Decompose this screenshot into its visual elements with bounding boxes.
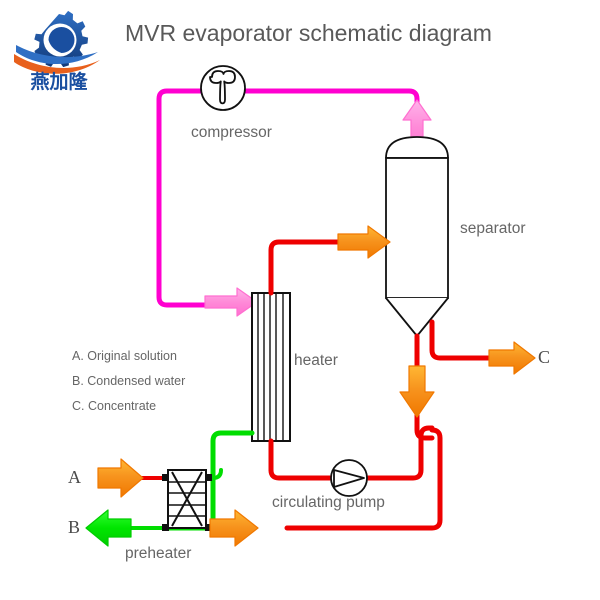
legend-item-c: C. Concentrate (72, 399, 156, 413)
arrow-condensate-B-icon (86, 510, 131, 546)
label-circulating-pump: circulating pump (272, 494, 385, 512)
label-compressor: compressor (191, 124, 272, 142)
logo-text: 燕加隆 (30, 70, 88, 93)
preheater-icon (162, 470, 212, 531)
logo-gear-icon (14, 11, 100, 74)
arrow-vapor-right-icon (205, 288, 257, 316)
pipe-concentrate-out (432, 322, 492, 358)
arrow-hot-to-separator-icon (338, 226, 390, 258)
label-separator: separator (460, 220, 525, 238)
pipe-heater-to-pump (271, 470, 331, 478)
arrow-concentrate-C-icon (489, 342, 535, 374)
legend-item-b: B. Condensed water (72, 374, 185, 388)
page-title: MVR evaporator schematic diagram (125, 20, 492, 47)
stream-tag-a: A (68, 467, 81, 488)
stream-tag-c: C (538, 347, 550, 368)
arrow-feed-A-icon (98, 459, 143, 497)
diagram-page: 燕加隆 (0, 0, 600, 600)
circulating-pump-icon (331, 460, 367, 496)
heater-icon (252, 293, 290, 441)
stream-tag-b: B (68, 517, 80, 538)
label-heater: heater (294, 352, 338, 370)
legend-item-a: A. Original solution (72, 349, 177, 363)
label-preheater: preheater (125, 545, 191, 563)
pipe-compressor-to-separator (243, 91, 417, 120)
separator-icon (386, 137, 448, 336)
compressor-icon (201, 66, 245, 110)
arrow-preheater-out-icon (210, 510, 258, 546)
arrow-recirculation-down-icon (400, 366, 434, 417)
